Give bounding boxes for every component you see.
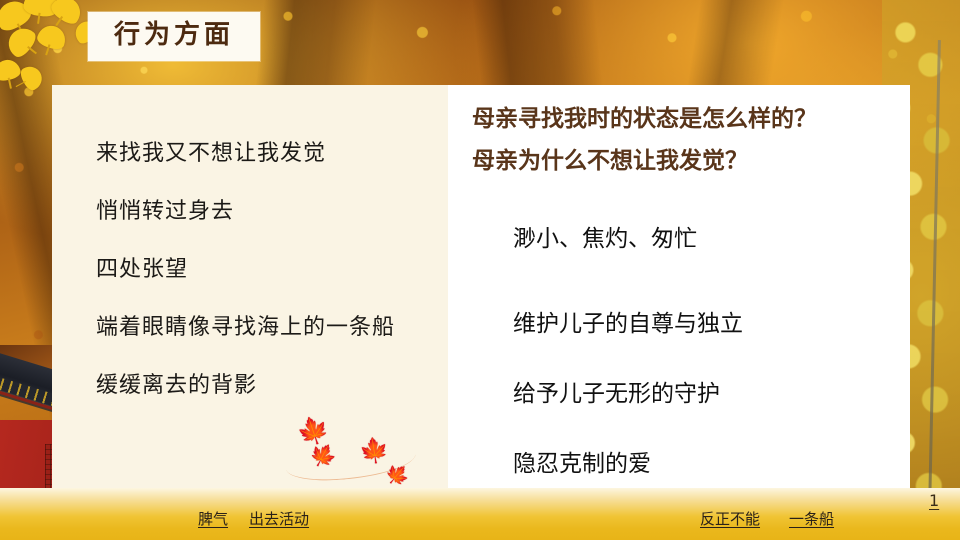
answer-group-state: 渺小、焦灼、匆忙 xyxy=(513,228,697,298)
question-line: 母亲寻找我时的状态是怎么样的？ xyxy=(472,108,902,131)
bar-keyword-chuquhuodong[interactable]: 出去活动 xyxy=(249,508,309,529)
poem-line: 悄悄转过身去 xyxy=(96,200,446,222)
poem-list: 来找我又不想让我发觉 悄悄转过身去 四处张望 端着眼睛像寻找海上的一条船 缓缓离… xyxy=(96,142,446,432)
page-number: 1 xyxy=(929,491,939,510)
answer-line: 隐忍克制的爱 xyxy=(513,453,743,476)
question-line: 母亲为什么不想让我发觉？ xyxy=(472,150,902,173)
question-list: 母亲寻找我时的状态是怎么样的？ 母亲为什么不想让我发觉？ xyxy=(472,108,902,192)
slide-canvas: 行为方面 来找我又不想让我发觉 悄悄转过身去 四处张望 端着眼睛像寻找海上的一条… xyxy=(0,0,960,540)
bar-keyword-yitiaochuan[interactable]: 一条船 xyxy=(789,508,834,529)
answer-line: 给予儿子无形的守护 xyxy=(513,383,743,406)
slide-title-box: 行为方面 xyxy=(88,12,260,61)
page-title: 行为方面 xyxy=(114,21,234,50)
poem-line: 缓缓离去的背影 xyxy=(96,374,446,396)
answer-line: 渺小、焦灼、匆忙 xyxy=(513,228,697,251)
bar-keyword-fanzhengbuneng[interactable]: 反正不能 xyxy=(700,508,760,529)
bar-keyword-piqi[interactable]: 脾气 xyxy=(198,508,228,529)
poem-line: 端着眼睛像寻找海上的一条船 xyxy=(96,316,446,338)
answer-line: 维护儿子的自尊与独立 xyxy=(513,313,743,336)
poem-line: 四处张望 xyxy=(96,258,446,280)
poem-line: 来找我又不想让我发觉 xyxy=(96,142,446,164)
